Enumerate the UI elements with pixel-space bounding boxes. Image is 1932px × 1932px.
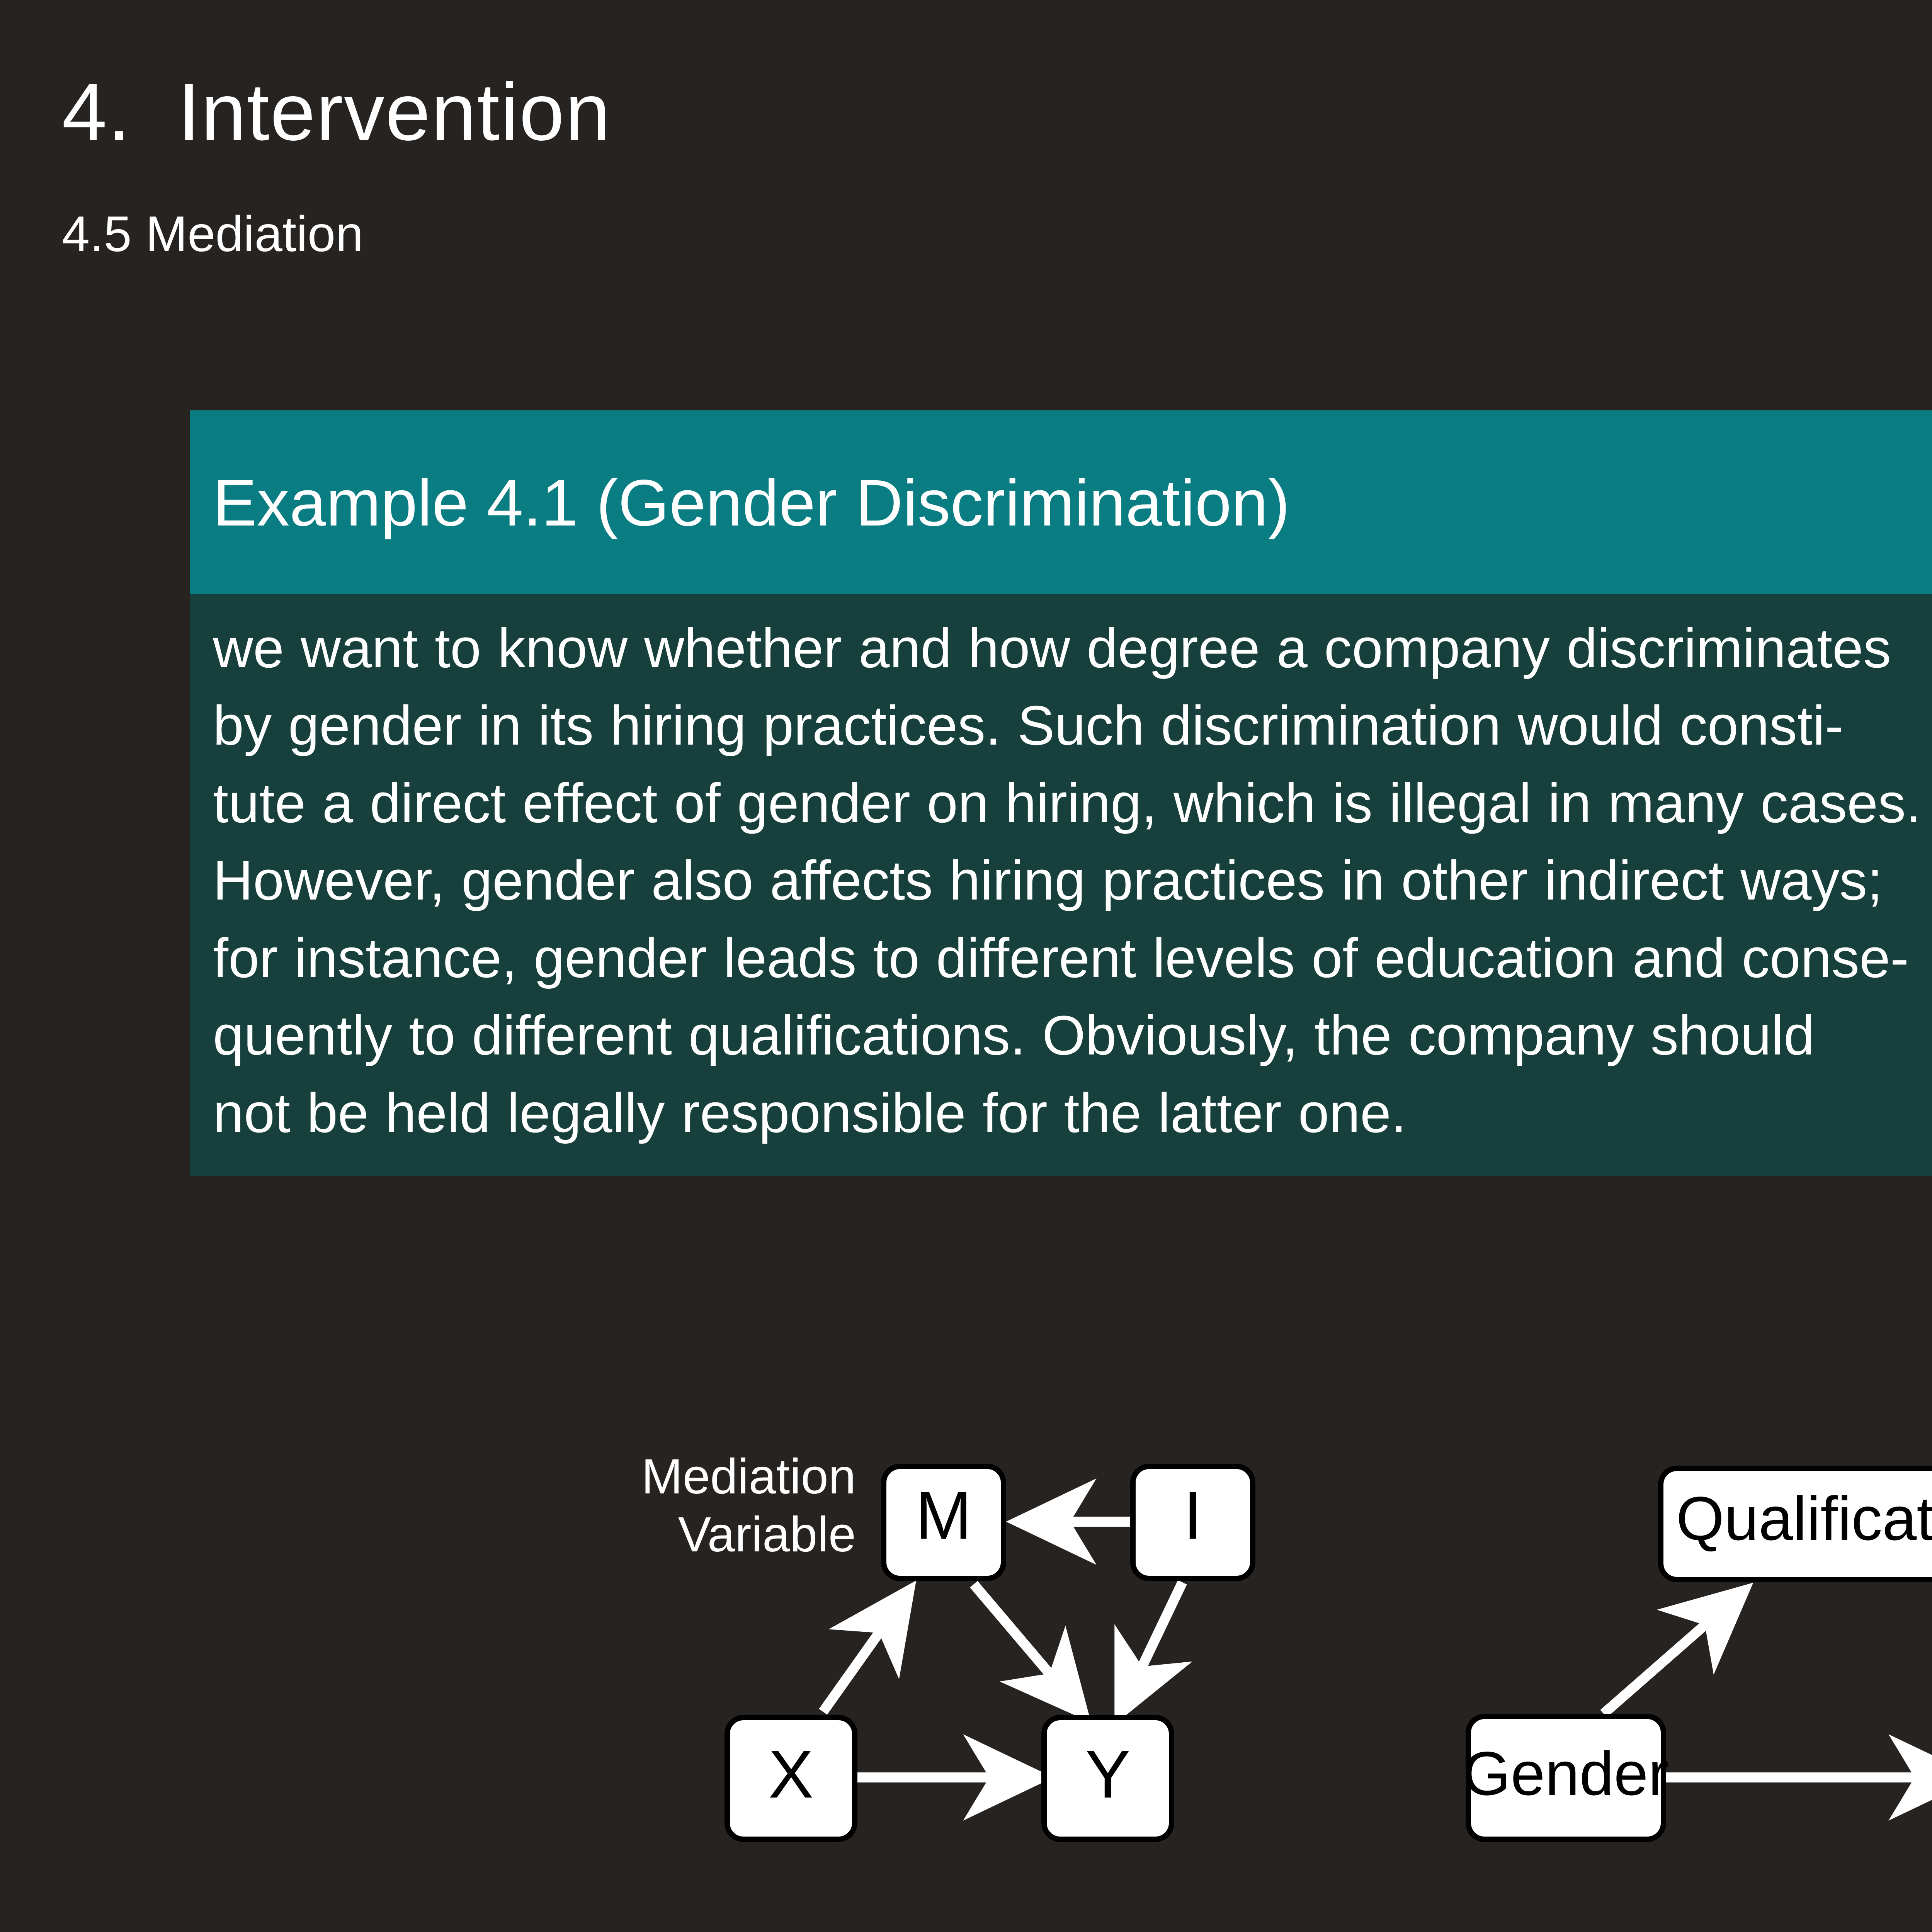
edge-I-to-Y xyxy=(1121,1582,1182,1712)
diagram-left: Mediation Variable M I X xyxy=(641,1449,1253,1839)
node-X: X xyxy=(727,1718,855,1839)
example-block-title: Example 4.1 (Gender Discrimination) xyxy=(213,470,1290,536)
example-block-header: Example 4.1 (Gender Discrimination) xyxy=(190,410,1932,594)
node-X-label: X xyxy=(769,1737,814,1812)
example-block: Example 4.1 (Gender Discrimination) we w… xyxy=(190,410,1932,1176)
node-Y: Y xyxy=(1044,1718,1172,1839)
node-gender: Gender xyxy=(1463,1716,1669,1839)
example-block-line: However, gender also affects hiring prac… xyxy=(213,842,1932,919)
example-block-line: we want to know whether and how degree a… xyxy=(213,610,1932,687)
node-gender-label: Gender xyxy=(1463,1739,1669,1808)
example-block-line: for instance, gender leads to different … xyxy=(213,920,1932,997)
example-block-body: we want to know whether and how degree a… xyxy=(190,594,1932,1176)
page-title: 4. Intervention xyxy=(62,71,611,153)
node-qualification-label: Qualification xyxy=(1676,1484,1932,1553)
edge-X-to-M xyxy=(823,1592,908,1712)
causal-diagrams: Mediation Variable M I X xyxy=(0,1430,1932,1874)
node-I: I xyxy=(1133,1466,1253,1578)
edge-gender-to-qualification xyxy=(1604,1592,1743,1714)
node-Y-label: Y xyxy=(1085,1737,1131,1812)
mediation-variable-label-line1: Mediation xyxy=(641,1449,856,1504)
example-block-line: tute a direct effect of gender on hiring… xyxy=(213,765,1932,842)
node-I-label: I xyxy=(1184,1478,1202,1553)
node-M: M xyxy=(884,1466,1003,1578)
causal-diagrams-svg: Mediation Variable M I X xyxy=(0,1430,1932,1874)
example-block-line: quently to different qualifications. Obv… xyxy=(213,997,1932,1074)
edge-M-to-Y xyxy=(974,1584,1082,1712)
node-qualification: Qualification xyxy=(1661,1468,1932,1580)
example-block-line: by gender in its hiring practices. Such … xyxy=(213,687,1932,764)
node-M-label: M xyxy=(915,1478,972,1553)
page-subtitle: 4.5 Mediation xyxy=(62,209,364,259)
diagram-right: Qualification Gender Hiring xyxy=(1463,1468,1932,1839)
example-block-line: not be held legally responsible for the … xyxy=(213,1075,1932,1152)
mediation-variable-label-line2: Variable xyxy=(678,1507,856,1562)
